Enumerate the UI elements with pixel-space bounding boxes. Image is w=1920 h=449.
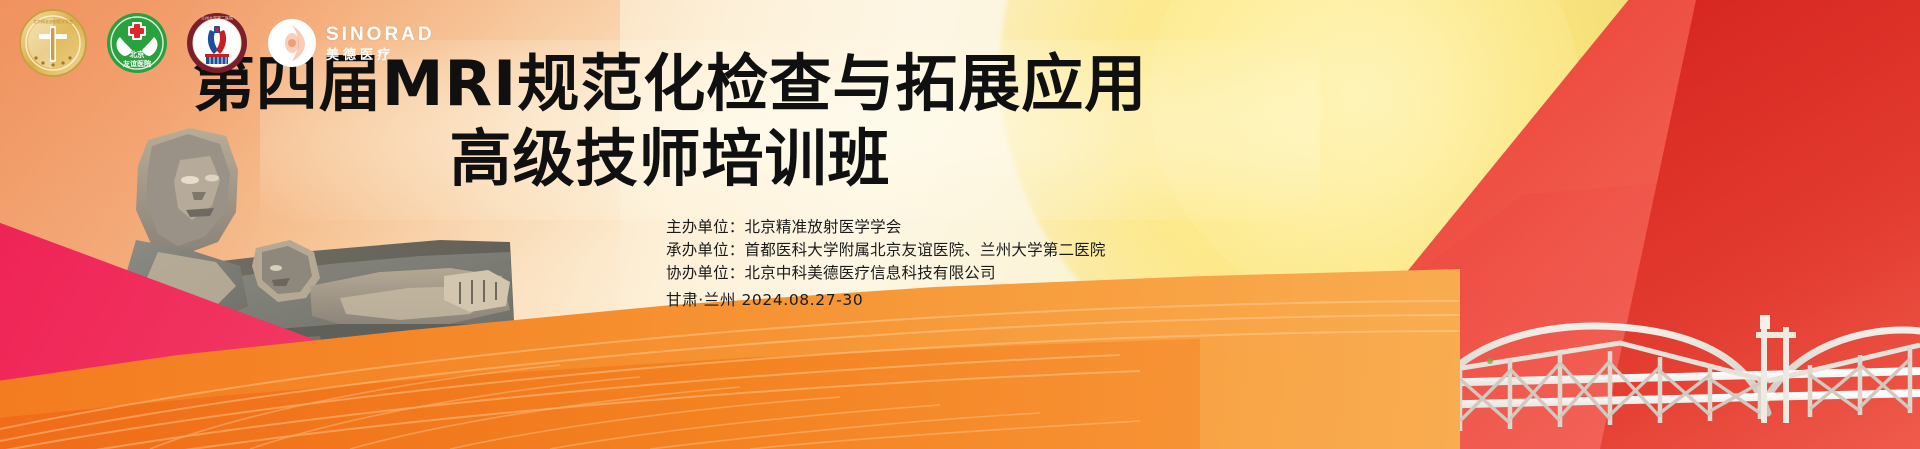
friendship-logo-cn2: 友谊医院 [122,59,151,68]
lanzhou-university-second-hospital-logo: 兰州大学第二医院 [186,12,248,74]
sinorad-wordmark-en: SINORAD [326,25,435,44]
organizer-info-block: 主办单位：北京精准放射医学学会 承办单位：首都医科大学附属北京友谊医院、兰州大学… [666,216,1106,312]
sinorad-eye-icon [266,17,318,69]
svg-text:北京精准放射医学学会: 北京精准放射医学学会 [33,18,73,24]
conference-banner: 北京精准放射医学学会 [0,0,1920,449]
logo-row: 北京精准放射医学学会 [18,8,435,78]
sinorad-meide-medical-logo: SINORAD 美德医疗 [266,17,435,69]
beijing-friendship-hospital-logo: 北京 友谊医院 [106,12,168,74]
sinorad-wordmark: SINORAD 美德医疗 [326,25,435,61]
friendship-logo-cn1: 北京 [130,49,145,59]
title-line-2: 高级技师培训班 [0,127,1340,190]
svg-text:兰州大学第二医院: 兰州大学第二医院 [201,15,233,21]
beijing-precision-radiology-society-logo: 北京精准放射医学学会 [18,8,88,78]
place-and-date-line: 甘肃·兰州 2024.08.27-30 [666,289,1106,312]
organizer-unit-line: 承办单位：首都医科大学附属北京友谊医院、兰州大学第二医院 [666,239,1106,262]
co-organizer-unit-line: 协办单位：北京中科美德医疗信息科技有限公司 [666,262,1106,285]
sinorad-wordmark-cn: 美德医疗 [326,48,435,61]
host-unit-line: 主办单位：北京精准放射医学学会 [666,216,1106,239]
